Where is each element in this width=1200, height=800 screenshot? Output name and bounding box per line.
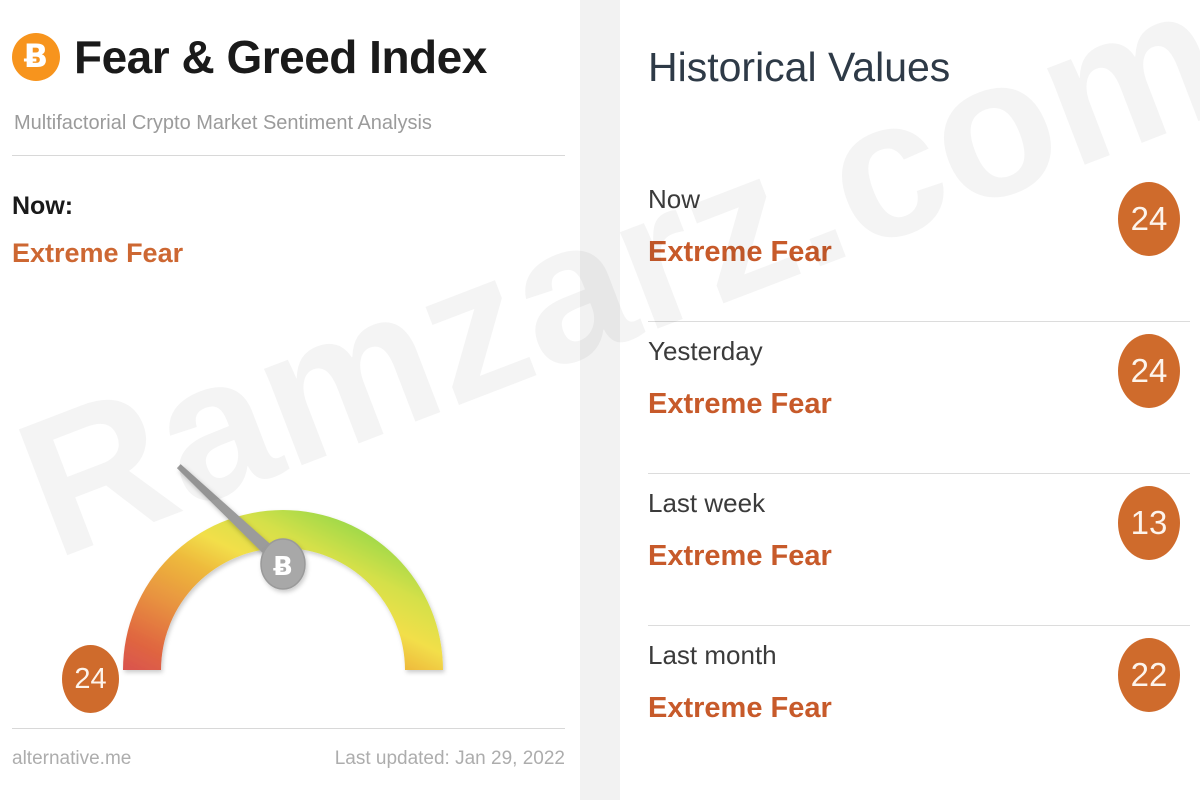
page-title: Fear & Greed Index: [74, 34, 487, 80]
svg-text:Ƀ: Ƀ: [273, 552, 293, 582]
brand-row: Ƀ Fear & Greed Index: [12, 26, 487, 88]
fear-greed-gauge: Ƀ 24: [0, 285, 580, 695]
now-label: Now:: [12, 192, 73, 221]
history-period: Last week: [648, 488, 765, 519]
gauge-value-badge: 24: [62, 645, 119, 713]
history-classification: Extreme Fear: [648, 692, 832, 725]
history-period: Now: [648, 184, 700, 215]
history-classification: Extreme Fear: [648, 540, 832, 573]
history-value-badge: 13: [1118, 486, 1180, 560]
history-value-badge: 24: [1118, 182, 1180, 256]
gauge-hub: Ƀ: [261, 539, 305, 589]
history-period: Last month: [648, 640, 777, 671]
list-item[interactable]: Now Extreme Fear 24: [648, 170, 1190, 322]
list-item[interactable]: Last week Extreme Fear 13: [648, 474, 1190, 626]
gauge-needle-overlay: Ƀ: [0, 285, 580, 695]
historical-values-panel: Historical Values Now Extreme Fear 24 Ye…: [620, 0, 1200, 800]
header-divider: [12, 155, 565, 156]
list-item[interactable]: Last month Extreme Fear 22: [648, 626, 1190, 778]
bitcoin-icon: Ƀ: [12, 33, 60, 81]
page-subtitle: Multifactorial Crypto Market Sentiment A…: [14, 112, 432, 135]
footer-divider: [12, 728, 565, 729]
history-value-badge: 22: [1118, 638, 1180, 712]
now-classification: Extreme Fear: [12, 238, 183, 269]
history-classification: Extreme Fear: [648, 388, 832, 421]
history-classification: Extreme Fear: [648, 236, 832, 269]
source-label[interactable]: alternative.me: [12, 748, 131, 770]
history-period: Yesterday: [648, 336, 763, 367]
list-item[interactable]: Yesterday Extreme Fear 24: [648, 322, 1190, 474]
gauge-panel: Ƀ Fear & Greed Index Multifactorial Cryp…: [0, 0, 580, 800]
historical-values-list: Now Extreme Fear 24 Yesterday Extreme Fe…: [648, 170, 1190, 778]
historical-values-title: Historical Values: [648, 44, 950, 91]
last-updated-label: Last updated: Jan 29, 2022: [335, 748, 565, 770]
fear-greed-index-screen: Ƀ Fear & Greed Index Multifactorial Cryp…: [0, 0, 1200, 800]
history-value-badge: 24: [1118, 334, 1180, 408]
